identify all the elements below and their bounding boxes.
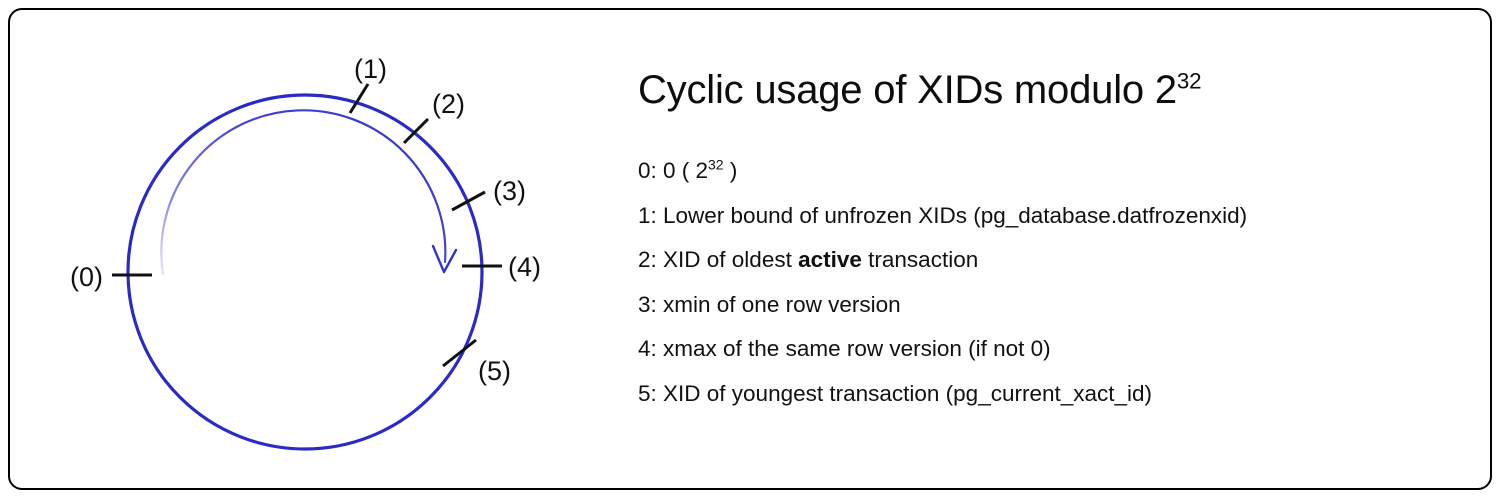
- tick-label-2: (2): [432, 89, 465, 119]
- tick-mark-1: [350, 84, 368, 113]
- tick-label-5: (5): [478, 356, 511, 386]
- legend-item-2-emphasis: active: [798, 247, 862, 272]
- legend-item-3: 3: xmin of one row version: [638, 294, 1458, 317]
- legend-item-2-suffix: transaction: [862, 247, 978, 272]
- tick-label-4: (4): [508, 252, 541, 282]
- page-title-base: Cyclic usage of XIDs modulo 2: [638, 68, 1177, 112]
- legend-item-5: 5: XID of youngest transaction (pg_curre…: [638, 383, 1458, 406]
- legend-item-2-prefix: 2: XID of oldest: [638, 247, 798, 272]
- legend-list: 0: 0 ( 232 ) 1: Lower bound of unfrozen …: [638, 160, 1458, 405]
- xid-cycle-circle: [128, 95, 482, 449]
- page-title-exponent: 32: [1177, 69, 1202, 94]
- tick-label-1: (1): [354, 54, 387, 84]
- legend-item-0: 0: 0 ( 232 ): [638, 160, 1458, 183]
- legend-item-2: 2: XID of oldest active transaction: [638, 249, 1458, 272]
- diagram-page: (0) (1) (2) (3) (4) (5) Cyclic usage of …: [0, 0, 1504, 502]
- tick-mark-5: [443, 340, 476, 366]
- legend-item-0-exponent: 32: [708, 157, 724, 173]
- cycle-direction-arc: [161, 110, 445, 274]
- tick-label-3: (3): [493, 176, 526, 206]
- legend-item-0-prefix: 0: 0 ( 2: [638, 158, 708, 183]
- cyclic-xid-diagram: (0) (1) (2) (3) (4) (5): [0, 0, 620, 502]
- tick-label-0: (0): [70, 262, 103, 292]
- text-panel: Cyclic usage of XIDs modulo 232 0: 0 ( 2…: [638, 60, 1458, 427]
- legend-item-0-suffix: ): [724, 158, 738, 183]
- legend-item-4: 4: xmax of the same row version (if not …: [638, 338, 1458, 361]
- legend-item-1: 1: Lower bound of unfrozen XIDs (pg_data…: [638, 205, 1458, 228]
- page-title: Cyclic usage of XIDs modulo 232: [638, 60, 1458, 112]
